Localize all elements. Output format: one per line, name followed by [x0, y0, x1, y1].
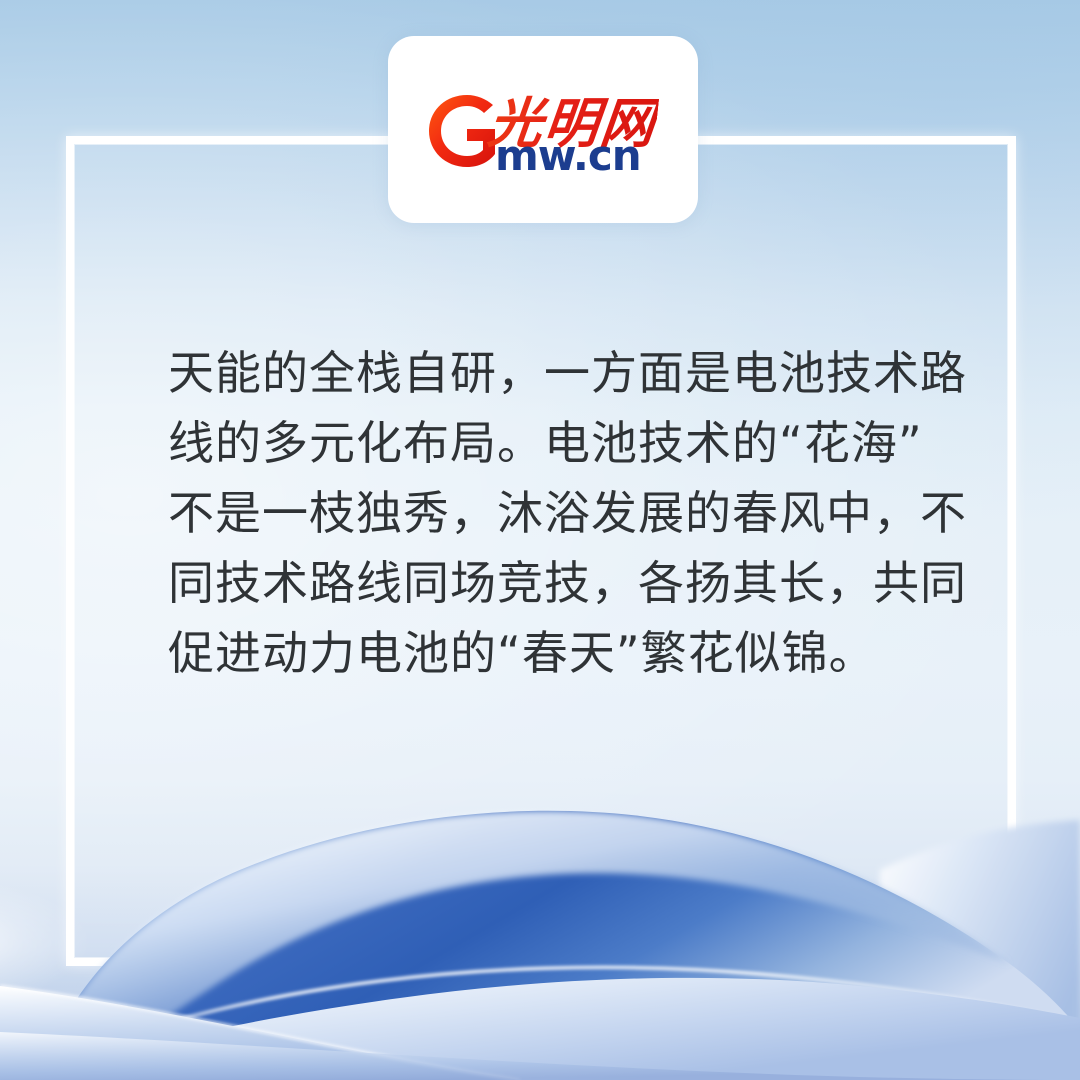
dune-mid-pale [0, 978, 1080, 1080]
quote-line: 天能的全栈自研，一方面是电池技术路 [168, 338, 944, 408]
poster-canvas: 天能的全栈自研，一方面是电池技术路 线的多元化布局。电池技术的“花海” 不是一枝… [0, 0, 1080, 1080]
left-light-flare [0, 876, 210, 996]
quote-body: 天能的全栈自研，一方面是电池技术路 线的多元化布局。电池技术的“花海” 不是一枝… [168, 338, 944, 688]
dune-foreground-band [0, 1032, 1080, 1080]
dune-deep-blue-sheen [40, 811, 1010, 1080]
brand-logo-card[interactable]: 光明网 mw.cn [388, 36, 698, 223]
dune-front-rim [0, 986, 520, 1080]
dune-rim-highlight [8, 967, 1080, 1080]
dune-deep-blue [40, 811, 1080, 1080]
brand-wordmark: mw.cn [495, 135, 641, 177]
quote-line: 不是一枝独秀，沐浴发展的春风中，不 [168, 478, 944, 548]
quote-line: 促进动力电池的“春天”繁花似锦。 [168, 618, 944, 688]
dune-far-right [880, 820, 1080, 1080]
dune-front [0, 986, 1080, 1080]
brand-logo: 光明网 mw.cn [427, 85, 659, 181]
quote-line: 线的多元化布局。电池技术的“花海” [168, 408, 944, 478]
background-dunes [0, 750, 1080, 1080]
quote-line: 同技术路线同场竞技，各扬其长，共同 [168, 548, 944, 618]
dune-front-helper [0, 994, 1080, 1080]
